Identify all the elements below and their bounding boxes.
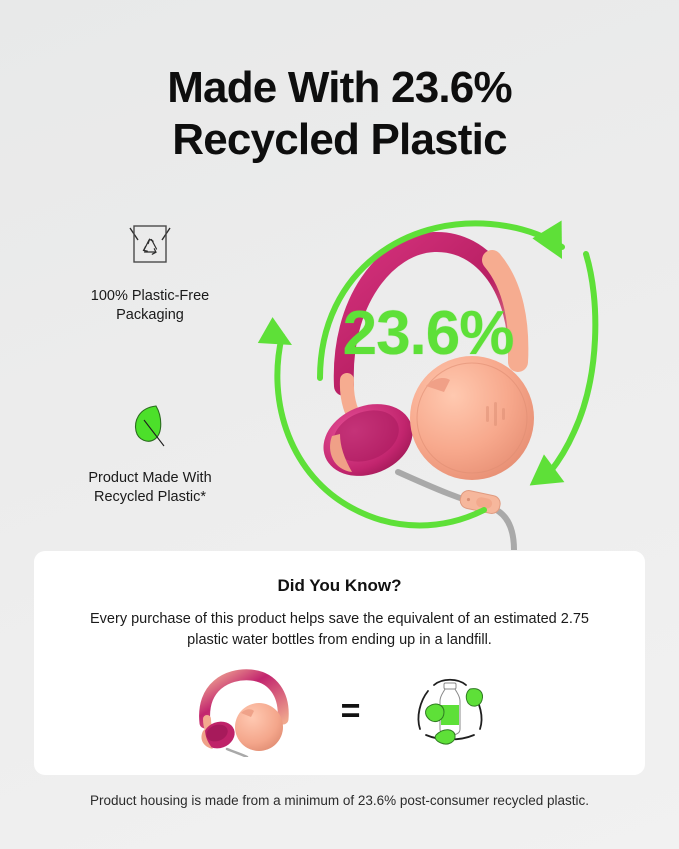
pink-headphones-thumbnail xyxy=(185,665,295,762)
recycling-arrows-loop xyxy=(248,190,608,550)
card-body: Every purchase of this product helps sav… xyxy=(90,609,590,651)
feature-label: Product Made With Recycled Plastic* xyxy=(40,469,260,507)
card-body-line-1: Every purchase of this product helps sav… xyxy=(90,611,490,627)
infographic-page: Made With 23.6% Recycled Plastic xyxy=(0,0,679,849)
feature-label-line-1: Product Made With xyxy=(88,470,211,486)
arrow-down-left-icon xyxy=(530,453,571,495)
recyclable-packaging-box-icon xyxy=(40,215,260,277)
arrow-down-right-icon xyxy=(532,213,580,260)
headline-line-2: Recycled Plastic xyxy=(0,114,679,166)
feature-label-line-2: Packaging xyxy=(116,307,184,323)
recycled-water-bottle-icon xyxy=(406,667,494,760)
green-leaf-icon xyxy=(40,397,260,459)
feature-label-line-1: 100% Plastic-Free xyxy=(91,288,209,304)
feature-plastic-free-packaging: 100% Plastic-Free Packaging xyxy=(40,215,260,325)
feature-label: 100% Plastic-Free Packaging xyxy=(40,287,260,325)
hero-percent-label: 23.6% xyxy=(248,298,608,369)
hero-visual: 23.6% xyxy=(248,190,608,550)
feature-label-line-2: Recycled Plastic* xyxy=(94,489,206,505)
page-title: Made With 23.6% Recycled Plastic xyxy=(0,62,679,166)
did-you-know-card: Did You Know? Every purchase of this pro… xyxy=(34,551,645,775)
feature-recycled-plastic: Product Made With Recycled Plastic* xyxy=(40,397,260,507)
card-title: Did You Know? xyxy=(34,576,645,596)
feature-list: 100% Plastic-Free Packaging Product Made… xyxy=(40,215,260,507)
footer-disclaimer: Product housing is made from a minimum o… xyxy=(0,793,679,808)
equals-sign: = xyxy=(341,694,361,734)
card-equivalence-visual: = xyxy=(34,665,645,762)
headline-line-1: Made With 23.6% xyxy=(167,63,512,112)
